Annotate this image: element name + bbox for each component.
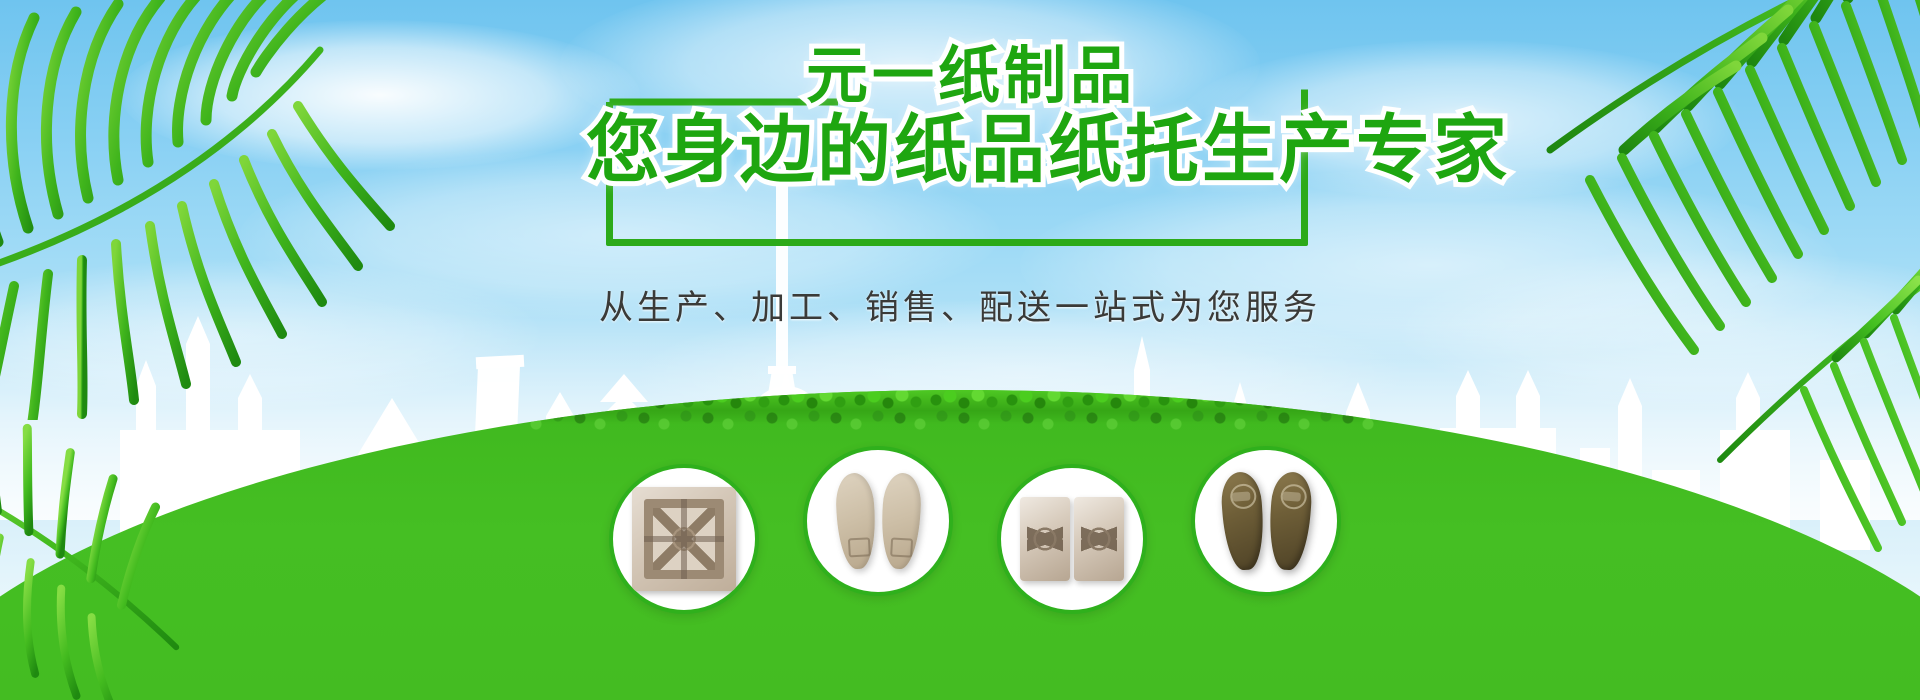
dark-pulp-shoe-molds-image (1214, 469, 1318, 573)
twin-pulp-trays-image (1020, 487, 1124, 591)
product-showcase (0, 446, 1920, 614)
headline-frame: 元一纸制品 您身边的纸品纸托生产专家 (606, 86, 1308, 246)
headline-block: 元一纸制品 您身边的纸品纸托生产专家 从生产、加工、销售、配送一站式为您服务 (0, 86, 1920, 329)
promo-banner: 元一纸制品 您身边的纸品纸托生产专家 从生产、加工、销售、配送一站式为您服务 (0, 0, 1920, 700)
twin-tray-icon (1020, 487, 1124, 591)
dark-shoe-right-icon (1266, 471, 1313, 572)
product-circle-twin-pulp-trays[interactable] (997, 464, 1147, 614)
insole-right-icon (879, 472, 922, 570)
brand-title: 元一纸制品 (806, 42, 1136, 112)
dark-shoe-pair-icon (1214, 469, 1318, 573)
square-pulp-tray-image (632, 487, 736, 591)
product-circle-square-pulp-tray[interactable] (609, 464, 759, 614)
product-circle-paper-pulp-insoles[interactable] (803, 446, 953, 596)
insole-pair-icon (826, 469, 930, 573)
product-circle-dark-pulp-shoe-molds[interactable] (1191, 446, 1341, 596)
brand-tagline: 您身边的纸品纸托生产专家 (586, 108, 1510, 192)
dark-shoe-left-icon (1219, 471, 1266, 572)
pulp-tray-icon (632, 487, 736, 591)
tray-half-left-icon (1020, 497, 1070, 581)
paper-pulp-insoles-image (826, 469, 930, 573)
tray-half-right-icon (1074, 497, 1124, 581)
banner-subtitle: 从生产、加工、销售、配送一站式为您服务 (599, 280, 1321, 329)
insole-left-icon (834, 472, 877, 570)
